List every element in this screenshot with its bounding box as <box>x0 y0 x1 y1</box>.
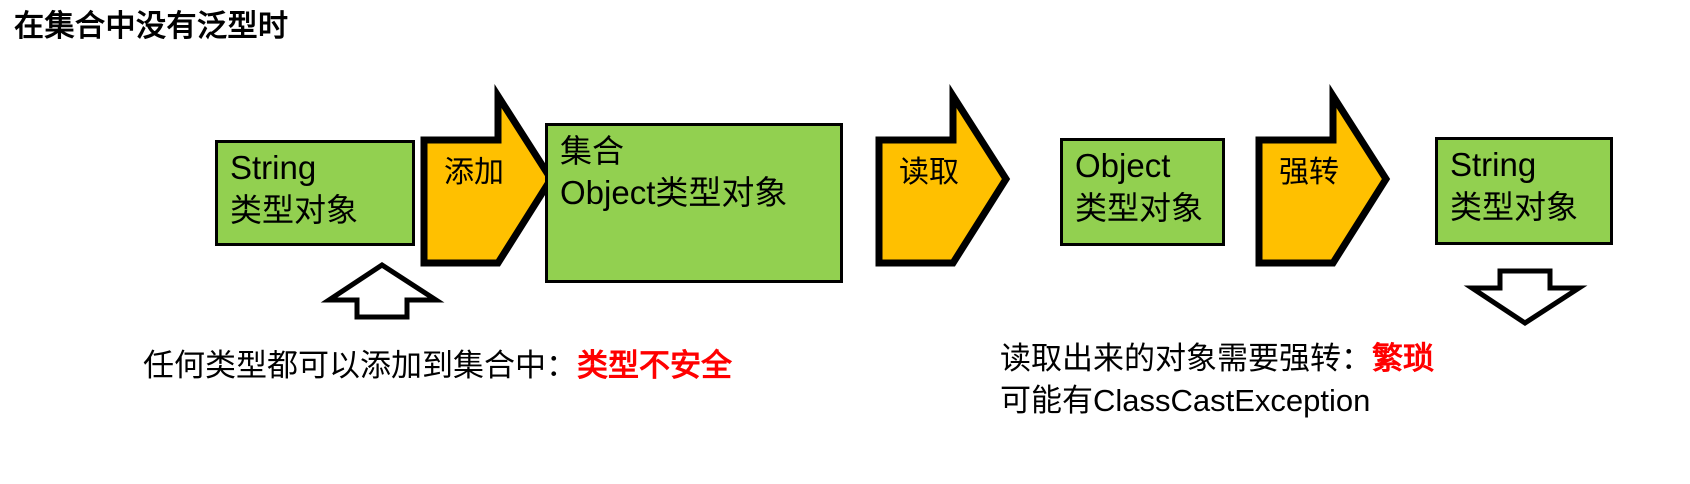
caption-right: 读取出来的对象需要强转：繁琐 可能有ClassCastException <box>1000 338 1434 422</box>
caption-right-line-1: 读取出来的对象需要强转：繁琐 <box>1000 338 1434 380</box>
caption-right-line-2: 可能有ClassCastException <box>1000 380 1434 422</box>
caption-left-text: 任何类型都可以添加到集合中： <box>143 348 577 384</box>
box-3-line-2: 类型对象 <box>1075 187 1214 229</box>
read-arrow: 读取 <box>875 92 1010 267</box>
caption-right-prefix: 可能有 <box>1000 383 1093 419</box>
box-2-line-2: Object类型对象 <box>560 172 832 214</box>
slide-canvas: 在集合中没有泛型时 String 类型对象 添加 集合 Object类型对象 读… <box>0 0 1690 484</box>
box-1-line-1: String <box>230 147 404 189</box>
caption-right-text: 读取出来的对象需要强转： <box>1000 341 1372 377</box>
add-arrow: 添加 <box>420 92 555 267</box>
collection-object-box: 集合 Object类型对象 <box>545 123 843 283</box>
string-object-box: String 类型对象 <box>215 140 415 246</box>
box-4-line-2: 类型对象 <box>1450 186 1602 228</box>
box-3-line-1: Object <box>1075 145 1214 187</box>
caption-right-highlight: 繁琐 <box>1372 341 1434 377</box>
caption-left: 任何类型都可以添加到集合中：类型不安全 <box>143 345 732 387</box>
page-title: 在集合中没有泛型时 <box>14 8 289 46</box>
object-type-box: Object 类型对象 <box>1060 138 1225 246</box>
box-4-line-1: String <box>1450 144 1602 186</box>
caption-right-exception-name: ClassCastException <box>1093 383 1370 418</box>
box-2-line-1: 集合 <box>560 130 832 172</box>
caption-left-highlight: 类型不安全 <box>577 348 732 384</box>
string-result-box: String 类型对象 <box>1435 137 1613 245</box>
box-1-line-2: 类型对象 <box>230 189 404 231</box>
cast-arrow: 强转 <box>1255 92 1390 267</box>
arrow-up-icon <box>325 262 440 320</box>
arrow-down-icon <box>1468 268 1583 326</box>
